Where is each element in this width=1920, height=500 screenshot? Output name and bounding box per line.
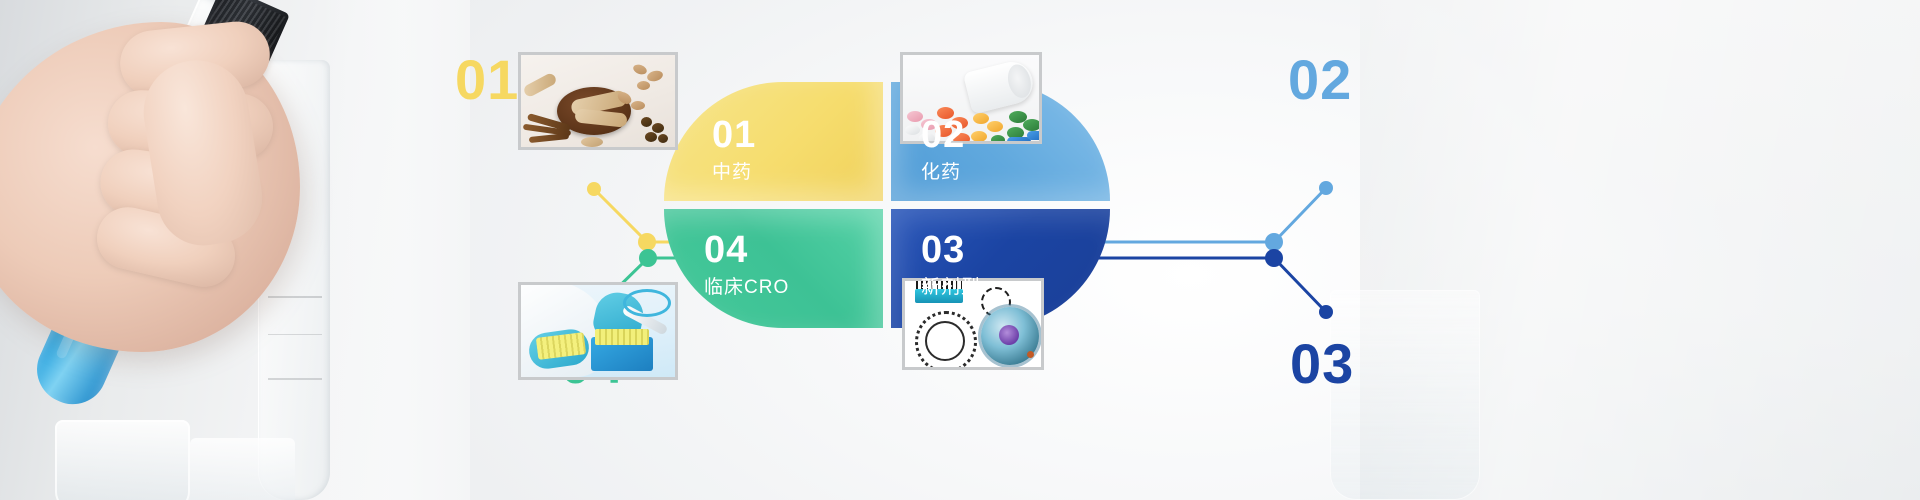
wheel-segment-02-text: 化药 [921,163,965,182]
hero-cylinder-markings [268,290,322,420]
lab-yellow-tips-right [595,329,649,345]
pill-yellow [973,113,989,124]
thumbnail-04-image [521,285,675,377]
herb-dark-piece [641,117,652,127]
outer-number-03: 03 [1290,336,1354,392]
wheel-segment-03-number: 03 [921,231,981,269]
hero-photo-fade [322,0,470,500]
herb-dark-piece [652,123,664,133]
pill-yellow [987,121,1003,132]
herb-slice [581,137,603,147]
wheel-segment-04-number: 04 [704,231,789,269]
hero-photo-hand-test-tube [0,0,470,500]
herb-slice [646,69,664,83]
diagram-liposome-core [999,325,1019,345]
wheel-segment-03-text: 新剂型 [921,278,981,297]
pill-blue-capsule [1027,131,1042,140]
pill-bottle [963,58,1037,115]
thumbnail-01-herbs[interactable] [518,52,678,150]
wheel-segment-04-text: 临床CRO [704,278,789,297]
hero-beaker-left [55,420,190,500]
herb-slice [631,101,645,110]
wheel-segment-01-text: 中药 [712,163,756,182]
outer-number-02: 02 [1288,52,1352,108]
banner-root: 01 中药 02 化药 04 临床CRO 03 新剂型 01 02 03 04 [0,0,1920,500]
wheel-segment-03-label: 03 新剂型 [921,231,981,297]
diagram-marker [1027,351,1034,358]
wheel-segment-01-number: 01 [712,116,756,154]
pill-yellow [971,131,987,142]
wheel-segment-04[interactable]: 04 临床CRO [664,209,883,328]
wheel-segment-01-label: 01 中药 [712,116,756,182]
outer-number-01: 01 [455,52,519,108]
wheel-segment-04-label: 04 临床CRO [704,231,789,297]
pill-green [1023,119,1041,131]
thumbnail-01-image [521,55,675,147]
background-beaker [1330,290,1480,500]
pill-white [905,125,920,135]
lab-tubing [623,289,671,317]
thumbnail-04-lab[interactable] [518,282,678,380]
herb-dark-piece [645,132,657,142]
wheel-segment-02-number: 02 [921,116,965,154]
hero-beaker-right [190,438,295,500]
herb-dark-piece [658,134,668,143]
herb-ginseng-root [522,72,558,99]
wheel-segment-02-label: 02 化药 [921,116,965,182]
herb-twig [529,133,569,143]
herb-slice [637,81,650,90]
pill-green [991,135,1005,144]
wheel-segment-01[interactable]: 01 中药 [664,82,883,201]
herb-slice [632,63,648,76]
diagram-liposome-inner-ring [925,321,965,361]
